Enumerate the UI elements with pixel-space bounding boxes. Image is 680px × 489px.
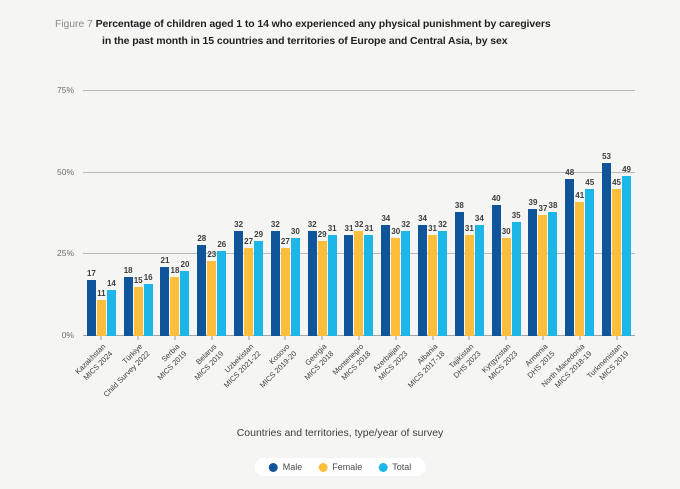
bar-value-label: 38: [455, 202, 464, 210]
bar-female[interactable]: 41: [575, 202, 584, 336]
legend-item-female[interactable]: Female: [318, 462, 362, 472]
x-axis-label: TurkmenistanMICS 2019: [598, 340, 635, 425]
bar-male[interactable]: 17: [87, 280, 96, 336]
x-axis-label: GeorgiaMICS 2018: [304, 340, 341, 425]
bar-total[interactable]: 31: [364, 235, 373, 336]
legend-label: Total: [392, 462, 411, 472]
bar-value-label: 18: [124, 267, 133, 275]
bar-group: 322729: [230, 91, 267, 336]
bar-male[interactable]: 38: [455, 212, 464, 336]
y-axis-tick-label: 0%: [62, 330, 74, 340]
bar-male[interactable]: 28: [197, 245, 206, 336]
bar-female[interactable]: 29: [318, 241, 327, 336]
bar-female[interactable]: 11: [97, 300, 106, 336]
y-axis-tick-label: 25%: [57, 248, 74, 258]
legend-color-dot: [318, 463, 327, 472]
bar-value-label: 49: [622, 166, 631, 174]
bar-value-label: 28: [197, 235, 206, 243]
bar-male[interactable]: 48: [565, 179, 574, 336]
bar-value-label: 53: [602, 153, 611, 161]
bar-value-label: 26: [217, 241, 226, 249]
x-axis-label: North MacedoniaMICS 2018-19: [561, 340, 598, 425]
bar-male[interactable]: 32: [271, 231, 280, 336]
bar-total[interactable]: 30: [291, 238, 300, 336]
bar-value-label: 17: [87, 270, 96, 278]
bar-male[interactable]: 40: [492, 205, 501, 336]
bar-value-label: 29: [318, 231, 327, 239]
bar-total[interactable]: 20: [180, 271, 189, 336]
bar-group: 393738: [525, 91, 562, 336]
bar-female[interactable]: 31: [465, 235, 474, 336]
bar-female[interactable]: 27: [244, 248, 253, 336]
bar-value-label: 27: [281, 238, 290, 246]
bar-group: 403035: [488, 91, 525, 336]
bar-total[interactable]: 49: [622, 176, 631, 336]
bar-group: 322730: [267, 91, 304, 336]
bar-value-label: 11: [97, 290, 105, 298]
bar-value-label: 32: [271, 221, 280, 229]
bar-value-label: 14: [107, 280, 116, 288]
bar-value-label: 45: [612, 179, 621, 187]
bar-groups: 1711141815162118202823263227293227303229…: [83, 91, 635, 336]
bar-female[interactable]: 31: [428, 235, 437, 336]
legend-item-male[interactable]: Male: [269, 462, 303, 472]
bar-total[interactable]: 34: [475, 225, 484, 336]
bar-total[interactable]: 45: [585, 189, 594, 336]
chart-container: 0%25%50%75% 1711141815162118202823263227…: [0, 0, 680, 489]
bar-female[interactable]: 32: [354, 231, 363, 336]
bar-value-label: 38: [549, 202, 558, 210]
bar-total[interactable]: 26: [217, 251, 226, 336]
x-axis-label: AlbaniaMICS 2017-18: [414, 340, 451, 425]
x-axis-label: TajikistanDHS 2023: [451, 340, 488, 425]
bar-group: 282326: [193, 91, 230, 336]
bar-value-label: 37: [539, 205, 548, 213]
bar-value-label: 30: [391, 228, 400, 236]
bar-group: 484145: [561, 91, 598, 336]
bar-group: 534549: [598, 91, 635, 336]
bar-group: 322931: [304, 91, 341, 336]
bar-value-label: 45: [585, 179, 594, 187]
bar-total[interactable]: 14: [107, 290, 116, 336]
bar-female[interactable]: 30: [391, 238, 400, 336]
bar-group: 343132: [414, 91, 451, 336]
bar-female[interactable]: 45: [612, 189, 621, 336]
x-axis-label: KosovoMICS 2019-20: [267, 340, 304, 425]
bar-value-label: 30: [502, 228, 511, 236]
bar-value-label: 32: [308, 221, 317, 229]
bar-value-label: 30: [291, 228, 300, 236]
bar-value-label: 18: [171, 267, 180, 275]
bar-value-label: 21: [161, 257, 170, 265]
bar-group: 383134: [451, 91, 488, 336]
bar-value-label: 48: [565, 169, 574, 177]
bar-value-label: 32: [234, 221, 243, 229]
bar-value-label: 16: [144, 274, 153, 282]
bar-male[interactable]: 21: [160, 267, 169, 336]
bar-total[interactable]: 29: [254, 241, 263, 336]
bar-value-label: 32: [355, 221, 364, 229]
bar-value-label: 15: [134, 277, 143, 285]
bar-value-label: 29: [254, 231, 263, 239]
bar-male[interactable]: 32: [234, 231, 243, 336]
bar-value-label: 34: [475, 215, 484, 223]
bar-value-label: 23: [207, 251, 216, 259]
bar-value-label: 39: [529, 199, 538, 207]
bar-total[interactable]: 31: [328, 235, 337, 336]
bar-total[interactable]: 32: [401, 231, 410, 336]
bar-value-label: 31: [365, 225, 374, 233]
bar-total[interactable]: 32: [438, 231, 447, 336]
bar-total[interactable]: 35: [512, 222, 521, 336]
bar-value-label: 34: [381, 215, 390, 223]
bar-group: 211820: [157, 91, 194, 336]
bar-female[interactable]: 18: [170, 277, 179, 336]
legend-label: Female: [332, 462, 362, 472]
bar-group: 313231: [341, 91, 378, 336]
y-axis-tick-label: 50%: [57, 167, 74, 177]
bar-value-label: 41: [575, 192, 584, 200]
bar-female[interactable]: 15: [134, 287, 143, 336]
bar-male[interactable]: 18: [124, 277, 133, 336]
bar-value-label: 27: [244, 238, 253, 246]
legend-item-total[interactable]: Total: [378, 462, 411, 472]
legend-color-dot: [269, 463, 278, 472]
legend-label: Male: [283, 462, 303, 472]
bar-female[interactable]: 30: [502, 238, 511, 336]
bar-female[interactable]: 27: [281, 248, 290, 336]
bar-group: 171114: [83, 91, 120, 336]
y-axis-tick-label: 75%: [57, 85, 74, 95]
bar-value-label: 31: [328, 225, 337, 233]
bar-value-label: 32: [401, 221, 410, 229]
bar-male[interactable]: 34: [418, 225, 427, 336]
bar-value-label: 35: [512, 212, 521, 220]
chart-legend: MaleFemaleTotal: [255, 458, 426, 476]
x-axis-labels: KazakhstanMICS 2024TürkiyeChild Survey 2…: [83, 340, 635, 425]
bar-male[interactable]: 53: [602, 163, 611, 336]
bar-group: 343032: [377, 91, 414, 336]
bar-value-label: 31: [465, 225, 474, 233]
bar-male[interactable]: 31: [344, 235, 353, 336]
plot-area: 0%25%50%75% 1711141815162118202823263227…: [83, 91, 635, 336]
bar-value-label: 40: [492, 195, 501, 203]
x-axis-title: Countries and territories, type/year of …: [0, 427, 680, 439]
bar-value-label: 20: [181, 261, 190, 269]
x-axis-label: SerbiaMICS 2019: [157, 340, 194, 425]
bar-value-label: 31: [345, 225, 354, 233]
bar-male[interactable]: 34: [381, 225, 390, 336]
x-axis-label: TürkiyeChild Survey 2022: [120, 340, 157, 425]
bar-female[interactable]: 23: [207, 261, 216, 336]
bar-value-label: 32: [438, 221, 447, 229]
bar-female[interactable]: 37: [538, 215, 547, 336]
x-axis-label: MontenegroMICS 2018: [341, 340, 378, 425]
bar-group: 181516: [120, 91, 157, 336]
x-axis-label: KyrgyzstanMICS 2023: [488, 340, 525, 425]
bar-total[interactable]: 16: [144, 284, 153, 336]
bar-value-label: 34: [418, 215, 427, 223]
bar-total[interactable]: 38: [548, 212, 557, 336]
bar-value-label: 31: [428, 225, 437, 233]
bar-male[interactable]: 39: [528, 209, 537, 336]
legend-color-dot: [378, 463, 387, 472]
bar-male[interactable]: 32: [308, 231, 317, 336]
